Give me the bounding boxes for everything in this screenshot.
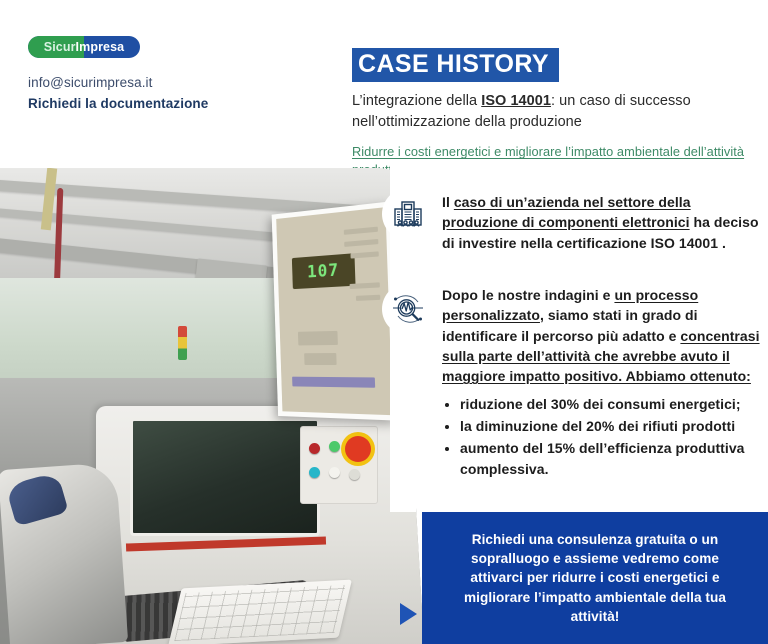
list-item: la diminuzione del 20% dei rifiuti prodo…	[460, 416, 768, 437]
list-item: aumento del 15% dell’efficienza produtti…	[460, 438, 768, 480]
photo-signal-tower	[178, 326, 187, 360]
photo-button-cyan	[309, 467, 320, 478]
logo-text: SicurImpresa	[28, 36, 140, 58]
photo-hmi-screen: 107	[272, 201, 398, 420]
photo-button-green	[329, 441, 340, 452]
photo-hmi-row-5	[356, 295, 380, 301]
content-block-company-text: Il caso di un’azienda nel settore della …	[442, 188, 768, 253]
logo-text-impresa: Impresa	[76, 40, 125, 54]
photo-hmi-row-7	[304, 353, 337, 365]
company-text-run-1: Il	[442, 194, 454, 210]
photo-button-gray	[349, 469, 360, 480]
case-history-banner: CASE HISTORY	[352, 48, 559, 82]
play-triangle-icon[interactable]	[400, 603, 417, 625]
factory-photo-inner: 107	[0, 168, 424, 644]
factory-building-icon	[382, 188, 434, 240]
subtitle-iso-term: ISO 14001	[481, 93, 551, 109]
page-subtitle: L’integrazione della ISO 14001: un caso …	[352, 91, 752, 133]
case-history-page: SicurImpresa info@sicurimpresa.it Richie…	[0, 0, 768, 644]
content-block-company: Il caso di un’azienda nel settore della …	[382, 188, 768, 253]
list-item: riduzione del 30% dei consumi energetici…	[460, 394, 768, 415]
case-history-title: CASE HISTORY	[358, 50, 549, 78]
results-paragraph: Dopo le nostre indagini e un processo pe…	[442, 285, 768, 386]
photo-hmi-display-value: 107	[292, 253, 356, 289]
brand-email[interactable]: info@sicurimpresa.it	[28, 74, 258, 92]
photo-control-panel	[300, 426, 378, 504]
factory-photo: 107	[0, 168, 424, 644]
photo-button-white-2	[329, 467, 340, 478]
content-block-results: Dopo le nostre indagini e un processo pe…	[382, 283, 768, 481]
photo-hmi-screen-body: 107	[276, 207, 392, 415]
results-bullet-list: riduzione del 30% dei consumi energetici…	[460, 394, 768, 480]
photo-hmi-row-2	[344, 239, 378, 247]
photo-hmi-row-3	[350, 251, 378, 258]
brand-block: SicurImpresa info@sicurimpresa.it Richie…	[28, 36, 258, 113]
photo-hmi-row-4	[350, 282, 380, 289]
photo-keyboard	[168, 580, 352, 644]
photo-machine-window	[130, 418, 320, 536]
subtitle-prefix: L’integrazione della	[352, 93, 481, 109]
magnifier-analytics-icon	[382, 283, 434, 335]
photo-button-red	[309, 443, 320, 454]
company-text-underlined: caso di un’azienda nel settore della pro…	[442, 194, 691, 230]
logo-text-sicur: Sicur	[44, 40, 76, 54]
photo-emergency-stop	[345, 436, 371, 462]
photo-hmi-status-bar	[292, 377, 375, 388]
photo-hmi-row-6	[298, 331, 338, 346]
sicurimpresa-logo[interactable]: SicurImpresa	[28, 36, 140, 58]
results-text-run-1: Dopo le nostre indagini e	[442, 287, 614, 303]
brand-request-docs-link[interactable]: Richiedi la documentazione	[28, 95, 258, 113]
content-block-results-text: Dopo le nostre indagini e un processo pe…	[442, 283, 768, 481]
cta-box[interactable]: Richiedi una consulenza gratuita o un so…	[422, 512, 768, 644]
title-block: CASE HISTORY L’integrazione della ISO 14…	[352, 48, 752, 179]
photo-hmi-row-1	[344, 227, 378, 235]
cta-text: Richiedi una consulenza gratuita o un so…	[448, 530, 742, 626]
